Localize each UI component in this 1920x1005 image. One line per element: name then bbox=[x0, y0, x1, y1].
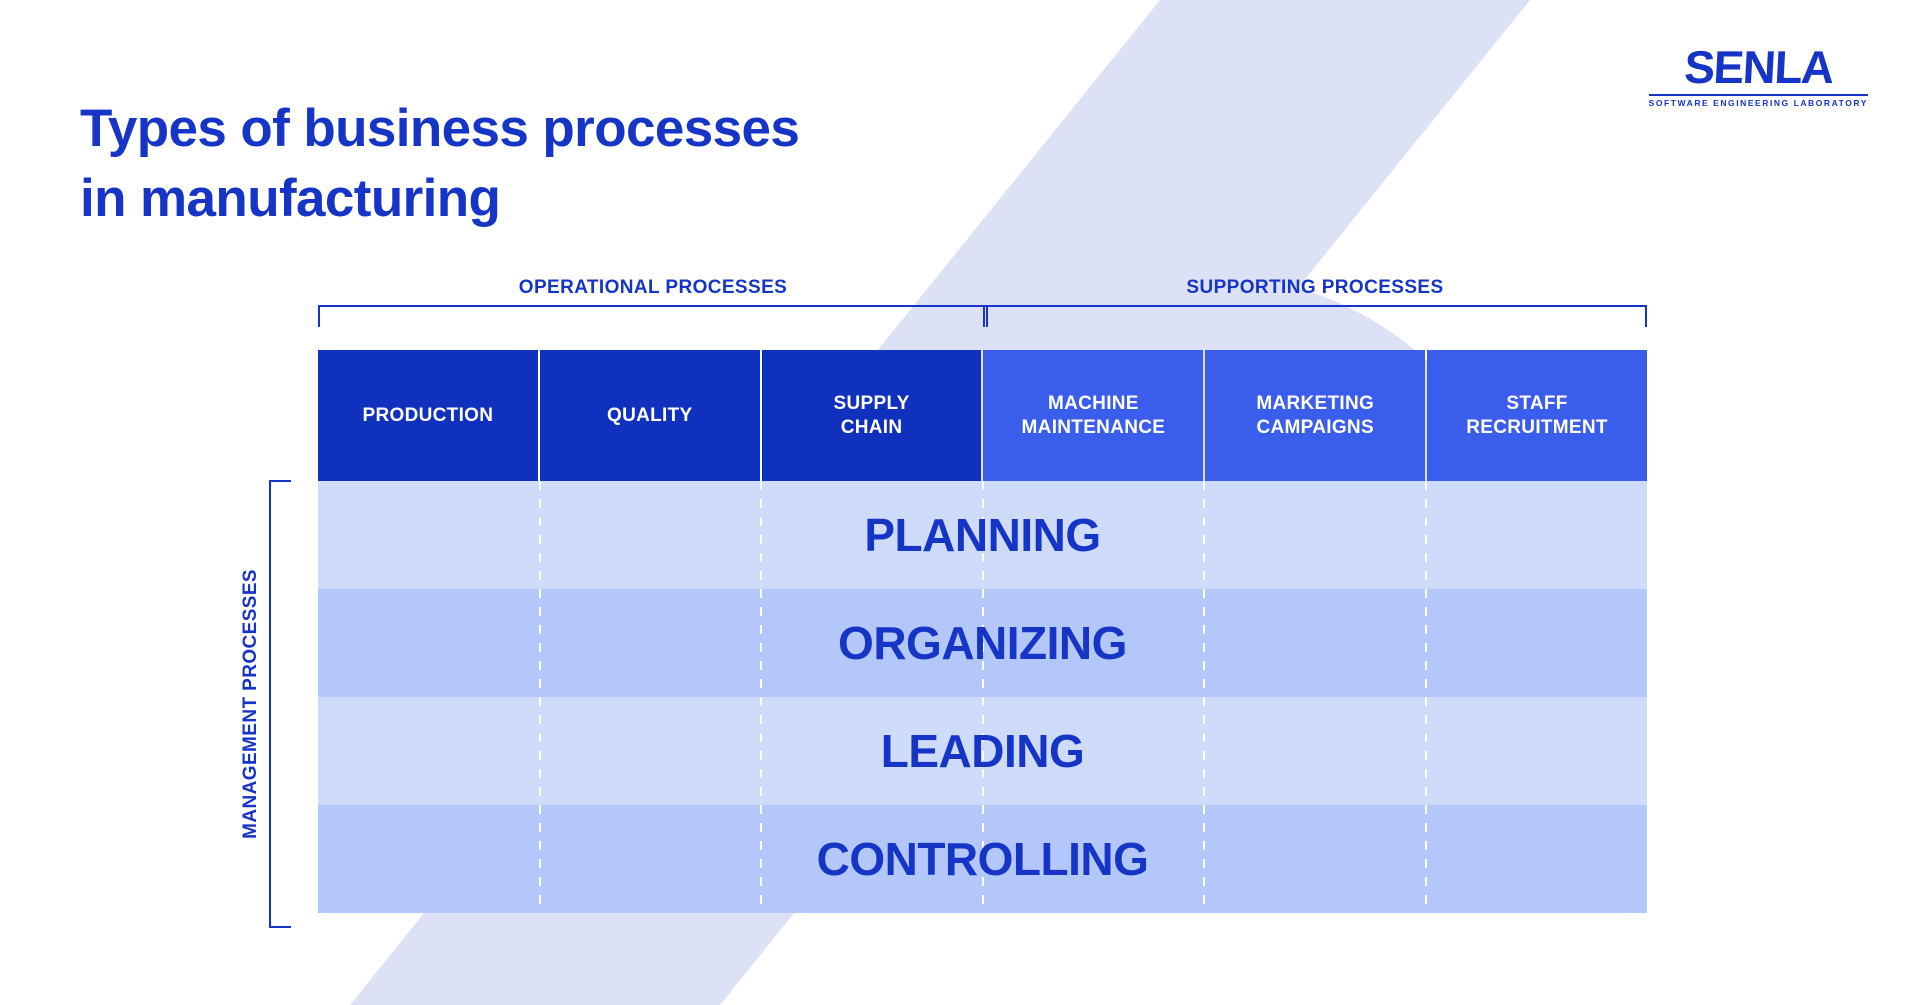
logo-tagline: SOFTWARE ENGINEERING LABORATORY bbox=[1649, 99, 1868, 108]
page-title: Types of business processes in manufactu… bbox=[80, 94, 799, 235]
row-label-leading: LEADING bbox=[881, 728, 1085, 774]
logo-divider-rule bbox=[1649, 94, 1868, 96]
column-header-machine-maintenance[interactable]: MACHINE MAINTENANCE bbox=[983, 350, 1203, 481]
column-header-staff-recruitment[interactable]: STAFF RECRUITMENT bbox=[1427, 350, 1647, 481]
row-label-organizing: ORGANIZING bbox=[838, 620, 1127, 666]
logo-wordmark: SENLA bbox=[1647, 44, 1869, 90]
row-label-planning: PLANNING bbox=[864, 512, 1100, 558]
group-bracket-supporting: SUPPORTING PROCESSES bbox=[983, 277, 1647, 327]
column-header-supply-chain[interactable]: SUPPLY CHAIN bbox=[762, 350, 982, 481]
matrix-row[interactable]: CONTROLLING bbox=[318, 805, 1647, 913]
senla-logo: SENLA SOFTWARE ENGINEERING LABORATORY bbox=[1649, 44, 1868, 108]
column-header-production[interactable]: PRODUCTION bbox=[318, 350, 538, 481]
group-bracket-management: MANAGEMENT PROCESSES bbox=[240, 480, 291, 928]
matrix-body: PLANNING ORGANIZING LEADING CONTROLLING bbox=[318, 481, 1647, 913]
matrix-row[interactable]: LEADING bbox=[318, 697, 1647, 805]
group-bracket-operational: OPERATIONAL PROCESSES bbox=[318, 277, 988, 327]
matrix-row[interactable]: PLANNING bbox=[318, 481, 1647, 589]
group-label-supporting: SUPPORTING PROCESSES bbox=[983, 277, 1647, 299]
bracket-shape-operational bbox=[318, 305, 988, 327]
column-header-quality[interactable]: QUALITY bbox=[540, 350, 760, 481]
group-label-operational: OPERATIONAL PROCESSES bbox=[318, 277, 988, 299]
group-label-management: MANAGEMENT PROCESSES bbox=[240, 569, 262, 839]
matrix-row[interactable]: ORGANIZING bbox=[318, 589, 1647, 697]
column-header-marketing-campaigns[interactable]: MARKETING CAMPAIGNS bbox=[1205, 350, 1425, 481]
process-matrix: PRODUCTION QUALITY SUPPLY CHAIN MACHINE … bbox=[318, 350, 1647, 913]
row-label-controlling: CONTROLLING bbox=[817, 836, 1149, 882]
matrix-header-row: PRODUCTION QUALITY SUPPLY CHAIN MACHINE … bbox=[318, 350, 1647, 481]
bracket-shape-management bbox=[269, 480, 291, 928]
bracket-shape-supporting bbox=[983, 305, 1647, 327]
